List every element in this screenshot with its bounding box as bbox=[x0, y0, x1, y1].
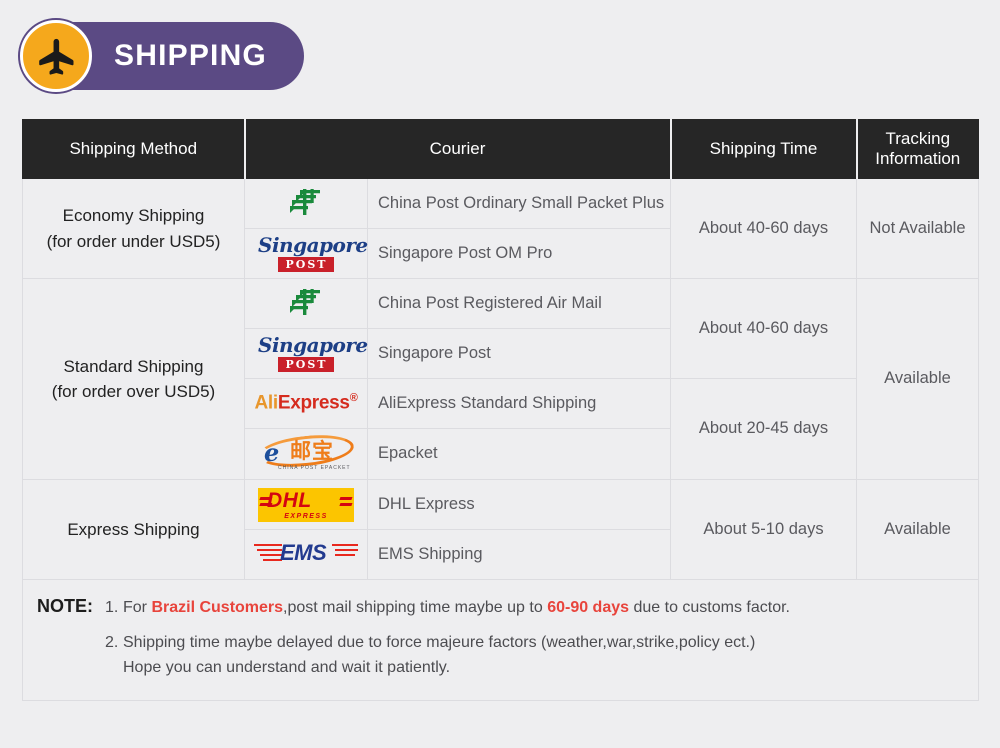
shipping-banner: SHIPPING bbox=[22, 22, 304, 90]
singapore-post-logo: Singapore POST bbox=[245, 329, 368, 379]
list-item: 2.Shipping time maybe delayed due to for… bbox=[105, 631, 790, 681]
table-row: Express Shipping DHL EXPRESS DHL Express… bbox=[23, 480, 979, 530]
dhl-wordmark: DHL bbox=[267, 490, 312, 511]
note-text-post: due to customs factor. bbox=[629, 599, 790, 616]
header-shipping-method: Shipping Method bbox=[23, 120, 245, 179]
courier-name: China Post Registered Air Mail bbox=[368, 279, 671, 329]
singapore-post-badge: POST bbox=[278, 357, 335, 372]
epacket-logo: e 邮宝 CHINA POST EPACKET bbox=[245, 429, 368, 480]
note-row: NOTE: 1.For Brazil Customers,post mail s… bbox=[23, 580, 979, 701]
note-text-line1: Shipping time maybe delayed due to force… bbox=[123, 634, 755, 651]
header-shipping-time: Shipping Time bbox=[671, 120, 857, 179]
shipping-table: Shipping Method Courier Shipping Time Tr… bbox=[22, 119, 979, 701]
note-highlight-days: 60-90 days bbox=[547, 599, 629, 616]
note-text-pre: For bbox=[123, 599, 151, 616]
shipping-time-value: About 20-45 days bbox=[671, 379, 857, 480]
epacket-chinese-text: 邮宝 bbox=[290, 441, 334, 462]
singapore-post-wordmark: Singapore bbox=[254, 235, 358, 255]
singapore-post-logo: Singapore POST bbox=[245, 229, 368, 279]
shipping-time-value: About 5-10 days bbox=[671, 480, 857, 580]
courier-name: Singapore Post bbox=[368, 329, 671, 379]
method-sublabel: (for order under USD5) bbox=[27, 229, 240, 255]
courier-name: Epacket bbox=[368, 429, 671, 480]
method-label: Express Shipping bbox=[27, 517, 240, 543]
note-highlight-brazil: Brazil Customers bbox=[151, 599, 283, 616]
shipping-info-page: SHIPPING Shipping Method Courier Shippin… bbox=[0, 0, 1000, 748]
note-section: NOTE: 1.For Brazil Customers,post mail s… bbox=[23, 580, 979, 701]
note-number: 1. bbox=[105, 596, 123, 621]
singapore-post-badge: POST bbox=[278, 257, 335, 272]
courier-name: China Post Ordinary Small Packet Plus bbox=[368, 179, 671, 229]
tracking-status: Not Available bbox=[857, 179, 979, 279]
china-post-logo bbox=[245, 279, 368, 329]
dhl-express-subtext: EXPRESS bbox=[258, 513, 354, 520]
courier-name: AliExpress Standard Shipping bbox=[368, 379, 671, 429]
ems-wordmark: EMS bbox=[280, 542, 326, 564]
header-tracking-information: Tracking Information bbox=[857, 120, 979, 179]
courier-name: EMS Shipping bbox=[368, 530, 671, 580]
note-text-mid: ,post mail shipping time maybe up to bbox=[283, 599, 547, 616]
aliexpress-express-text: Express bbox=[278, 393, 350, 414]
courier-name: Singapore Post OM Pro bbox=[368, 229, 671, 279]
airplane-icon bbox=[20, 20, 92, 92]
shipping-time-value: About 40-60 days bbox=[671, 179, 857, 279]
aliexpress-registered-mark: ® bbox=[350, 392, 358, 404]
shipping-time-value: About 40-60 days bbox=[671, 279, 857, 379]
method-economy-shipping: Economy Shipping (for order under USD5) bbox=[23, 179, 245, 279]
table-row: Standard Shipping (for order over USD5) bbox=[23, 279, 979, 329]
china-post-logo bbox=[245, 179, 368, 229]
note-label: NOTE: bbox=[37, 596, 105, 617]
aliexpress-logo: AliExpress® bbox=[245, 379, 368, 429]
tracking-status: Available bbox=[857, 480, 979, 580]
tracking-status: Available bbox=[857, 279, 979, 480]
epacket-subtext: CHINA POST EPACKET bbox=[278, 465, 351, 471]
method-sublabel: (for order over USD5) bbox=[27, 379, 240, 405]
aliexpress-ali-text: Ali bbox=[254, 393, 277, 414]
method-label: Standard Shipping bbox=[27, 354, 240, 380]
courier-name: DHL Express bbox=[368, 480, 671, 530]
method-label: Economy Shipping bbox=[27, 203, 240, 229]
dhl-logo: DHL EXPRESS bbox=[245, 480, 368, 530]
banner-title: SHIPPING bbox=[114, 39, 267, 73]
table-header-row: Shipping Method Courier Shipping Time Tr… bbox=[23, 120, 979, 179]
table-row: Economy Shipping (for order under USD5) bbox=[23, 179, 979, 229]
ems-logo: EMS bbox=[245, 530, 368, 580]
note-text-line2: Hope you can understand and wait it pati… bbox=[105, 656, 790, 681]
header-courier: Courier bbox=[245, 120, 671, 179]
list-item: 1.For Brazil Customers,post mail shippin… bbox=[105, 596, 790, 621]
method-standard-shipping: Standard Shipping (for order over USD5) bbox=[23, 279, 245, 480]
note-list: 1.For Brazil Customers,post mail shippin… bbox=[105, 596, 790, 680]
epacket-e-letter: e bbox=[264, 441, 279, 465]
note-number: 2. bbox=[105, 631, 123, 656]
singapore-post-wordmark: Singapore bbox=[254, 335, 358, 355]
method-express-shipping: Express Shipping bbox=[23, 480, 245, 580]
